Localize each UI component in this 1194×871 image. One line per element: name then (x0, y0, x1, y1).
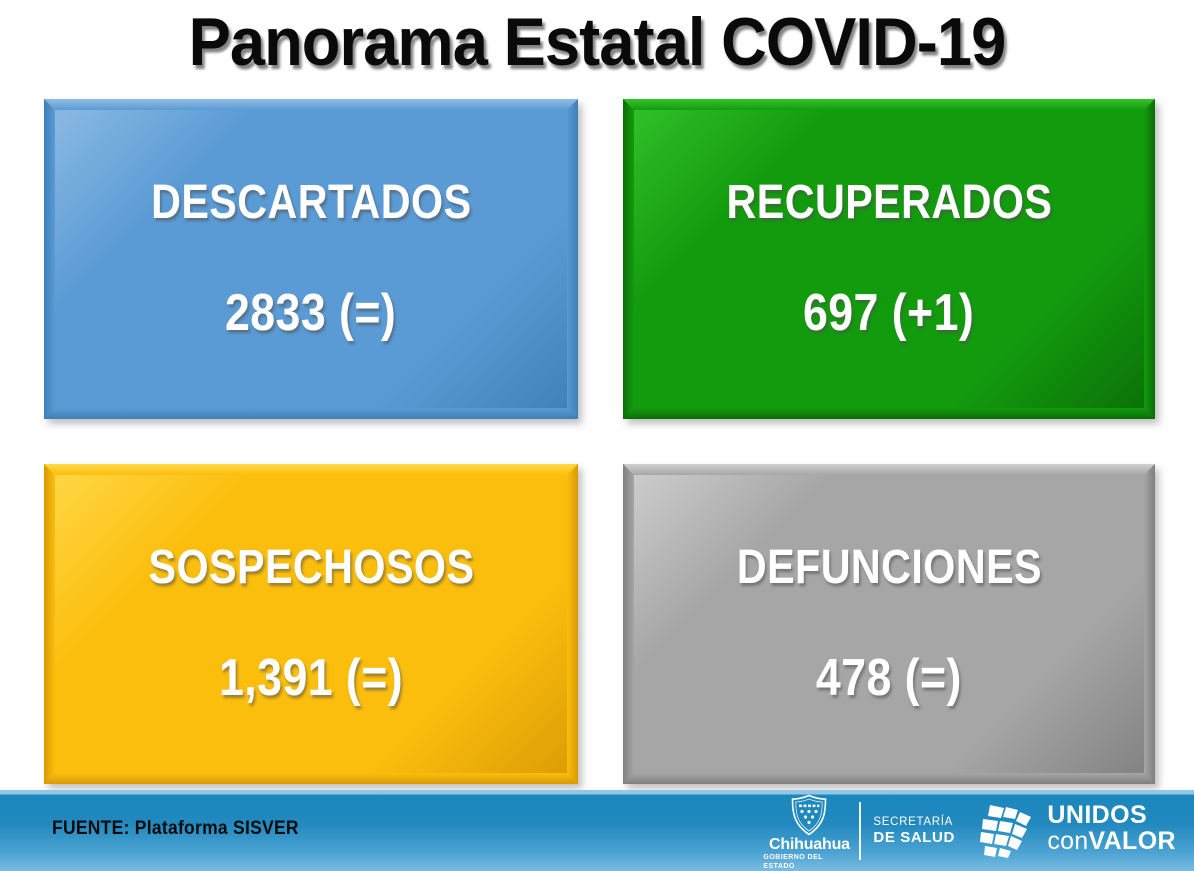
card-value: 697 (+1) (803, 283, 974, 343)
stat-card-sospechosos: SOSPECHOSOS 1,391 (=) (44, 464, 578, 784)
card-value: 2833 (=) (225, 283, 396, 343)
card-value: 478 (=) (816, 648, 962, 708)
logo-divider (859, 802, 861, 860)
logo-chihuahua-name: Chihuahua (769, 836, 850, 853)
logo-chihuahua: Chihuahua GOBIERNO DEL ESTADO (763, 790, 855, 871)
card-label: DESCARTADOS (151, 175, 471, 231)
infographic-root: Panorama Estatal COVID-19 DESCARTADOS 28… (0, 0, 1194, 871)
page-title: Panorama Estatal COVID-19 (42, 2, 1152, 82)
chihuahua-map-icon (977, 803, 1039, 859)
logo-salud-line1: SECRETARÍA (873, 815, 953, 829)
stat-card-defunciones: DEFUNCIONES 478 (=) (623, 464, 1155, 784)
footer-bar: FUENTE: Plataforma SISVER (0, 790, 1194, 871)
card-label: RECUPERADOS (726, 175, 1052, 231)
logo-unidos-line2: conVALOR (1047, 828, 1176, 858)
logo-unidos-con: con (1047, 827, 1088, 855)
card-label: SOSPECHOSOS (148, 540, 474, 596)
card-value: 1,391 (=) (219, 648, 403, 708)
source-label: FUENTE: Plataforma SISVER (52, 818, 299, 840)
logo-secretaria-salud: SECRETARÍA DE SALUD (873, 790, 969, 871)
card-label: DEFUNCIONES (736, 540, 1041, 596)
logo-group: Chihuahua GOBIERNO DEL ESTADO SECRETARÍA… (763, 790, 1184, 871)
stat-card-recuperados: RECUPERADOS 697 (+1) (623, 99, 1155, 419)
logo-unidos-line1: UNIDOS (1047, 803, 1176, 828)
stat-card-descartados: DESCARTADOS 2833 (=) (44, 99, 578, 419)
logo-chihuahua-subtitle: GOBIERNO DEL ESTADO (763, 853, 855, 871)
logo-unidos-con-valor: UNIDOS conVALOR (977, 790, 1184, 871)
logo-salud-line2: DE SALUD (873, 829, 954, 847)
logo-unidos-valor: VALOR (1088, 827, 1176, 855)
shield-crest-icon (790, 794, 828, 836)
